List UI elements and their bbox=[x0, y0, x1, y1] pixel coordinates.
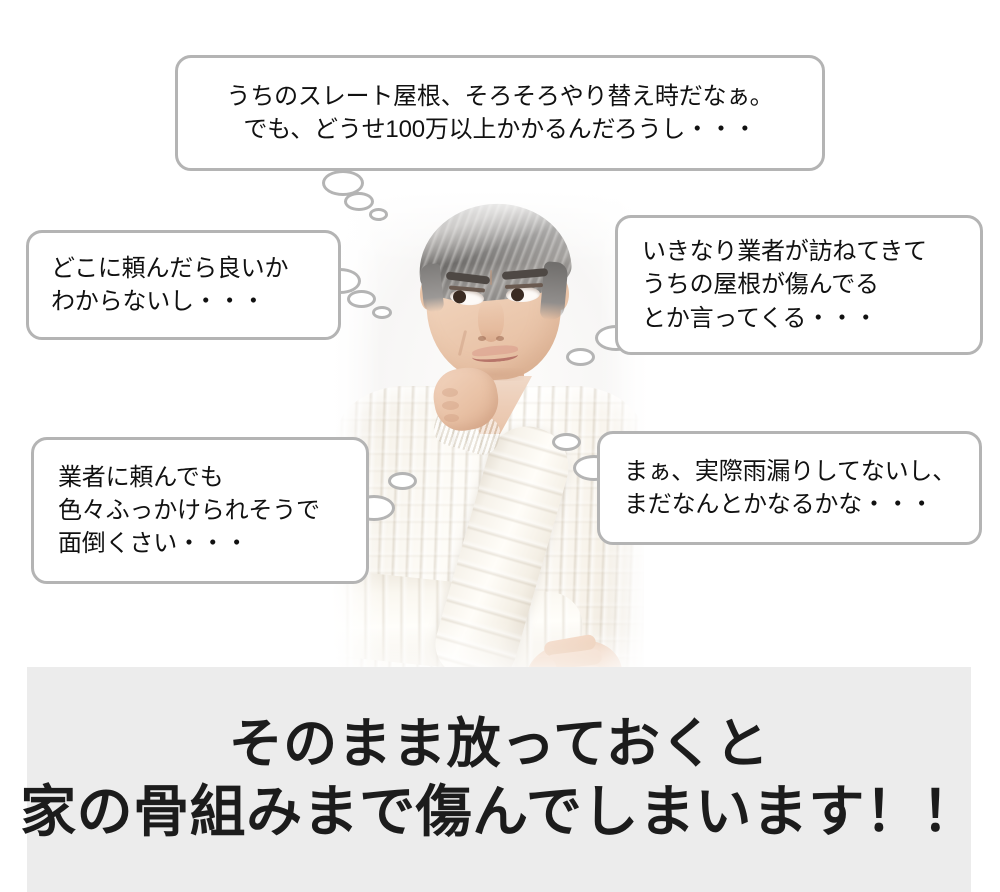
thought-tail-left-top-2 bbox=[347, 290, 376, 308]
thought-bubble-left-bottom: 業者に頼んでも 色々ふっかけられそうで 面倒くさい・・・ bbox=[31, 437, 369, 584]
thought-bubble-left-top-text: どこに頼んだら良いか わからないし・・・ bbox=[51, 252, 338, 318]
knuckle-1 bbox=[442, 388, 458, 397]
thought-bubble-top: うちのスレート屋根、そろそろやり替え時だなぁ。 でも、どうせ100万以上かかるん… bbox=[175, 55, 825, 171]
poster-root: うちのスレート屋根、そろそろやり替え時だなぁ。 でも、どうせ100万以上かかるん… bbox=[0, 0, 1000, 892]
thought-bubble-right-bottom-text: まぁ、実際雨漏りしてないし、 まだなんとかなるかな・・・ bbox=[624, 455, 979, 521]
banner-headline-line2: 家の骨組みまで傷んでしまいます！！ bbox=[20, 778, 978, 846]
thought-tail-top-2 bbox=[344, 192, 374, 211]
thought-bubble-right-bottom: まぁ、実際雨漏りしてないし、 まだなんとかなるかな・・・ bbox=[597, 431, 982, 545]
thought-bubble-top-text: うちのスレート屋根、そろそろやり替え時だなぁ。 でも、どうせ100万以上かかるん… bbox=[178, 80, 822, 146]
thought-bubble-right-top-text: いきなり業者が訪ねてきて うちの屋根が傷んでる とか言ってくる・・・ bbox=[642, 235, 980, 334]
thought-tail-right-top-2 bbox=[566, 348, 595, 366]
thought-tail-left-bottom-2 bbox=[388, 472, 417, 490]
thought-bubble-right-top: いきなり業者が訪ねてきて うちの屋根が傷んでる とか言ってくる・・・ bbox=[615, 215, 983, 355]
thought-bubble-left-bottom-text: 業者に頼んでも 色々ふっかけられそうで 面倒くさい・・・ bbox=[58, 461, 366, 560]
brow-crease bbox=[490, 270, 492, 285]
thought-bubble-left-top: どこに頼んだら良いか わからないし・・・ bbox=[26, 230, 341, 340]
nostril-left bbox=[478, 336, 486, 341]
warning-banner: そのまま放っておくと 家の骨組みまで傷んでしまいます！！ bbox=[27, 667, 971, 892]
knuckle-2 bbox=[442, 401, 459, 410]
thought-tail-left-top-3 bbox=[372, 306, 392, 319]
thought-tail-right-bottom-2 bbox=[552, 433, 581, 451]
nostril-right bbox=[496, 336, 504, 341]
pupil-left bbox=[452, 290, 466, 304]
banner-headline-line1: そのまま放っておくと bbox=[229, 712, 770, 778]
knuckle-3 bbox=[444, 414, 459, 422]
pupil-right bbox=[511, 288, 525, 302]
thought-tail-top-3 bbox=[369, 208, 388, 221]
